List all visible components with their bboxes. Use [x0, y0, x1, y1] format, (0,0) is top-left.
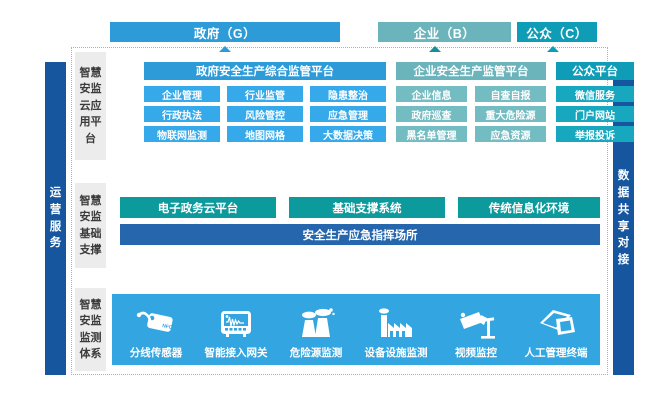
- module-ent-4[interactable]: 黑名单管理: [396, 126, 467, 142]
- tier-body-apps: 政府安全生产综合监管平台 企业安全生产监管平台 公众平台 企业管理 行业监管 隐…: [106, 52, 604, 160]
- module-gov-1[interactable]: 行业监管: [227, 86, 303, 102]
- left-vertical-bar-label: 运营服务: [49, 185, 62, 252]
- platform-title-public[interactable]: 公众平台: [556, 62, 634, 80]
- tier-cloud-application-platform: 智慧安监云应用平台 政府安全生产综合监管平台 企业安全生产监管平台 公众平台 企…: [75, 52, 604, 160]
- nfc-tag-sensor-icon: NFC: [136, 301, 176, 345]
- platform-title-government[interactable]: 政府安全生产综合监管平台: [144, 62, 386, 80]
- base-box-emergency-command-center[interactable]: 安全生产应急指挥场所: [120, 224, 600, 245]
- module-gov-3[interactable]: 行政执法: [144, 106, 220, 122]
- tier-label-apps: 智慧安监云应用平台: [75, 52, 106, 160]
- smart-gateway-icon: [216, 301, 256, 345]
- module-gov-0[interactable]: 企业管理: [144, 86, 220, 102]
- header-pill-government[interactable]: 政府（G）: [110, 22, 340, 42]
- module-gov-2[interactable]: 隐患整治: [310, 86, 386, 102]
- factory-icon: [376, 301, 416, 345]
- right-vertical-bar-label: 数据共享对接: [617, 168, 630, 268]
- header-pill-enterprise[interactable]: 企业（B）: [378, 22, 511, 42]
- module-ent-5[interactable]: 应急资源: [475, 126, 546, 142]
- cctv-camera-icon: [456, 301, 496, 345]
- module-pub-2[interactable]: 举报投诉: [556, 126, 634, 142]
- module-ent-3[interactable]: 重大危险源: [475, 106, 546, 122]
- base-box-egov-cloud[interactable]: 电子政务云平台: [120, 197, 276, 218]
- sense-label-hazard-source: 危险源监测: [290, 345, 343, 365]
- sense-item-smart-gateway[interactable]: 智能接入网关: [197, 294, 275, 365]
- module-gov-4[interactable]: 风险管控: [227, 106, 303, 122]
- module-gov-8[interactable]: 大数据决策: [310, 126, 386, 142]
- sense-label-equipment-monitoring: 设备设施监测: [365, 345, 428, 365]
- tier-base-support: 智慧安监基础支撑 电子政务云平台 基础支撑系统 传统信息化环境 安全生产应急指挥…: [75, 183, 604, 268]
- sense-label-video-surveillance: 视频监控: [455, 345, 497, 365]
- tier-label-sense: 智慧安监监测体系: [75, 288, 106, 371]
- tier-label-apps-text: 智慧安监云应用平台: [79, 65, 103, 148]
- sense-label-wired-sensor: 分线传感器: [130, 345, 183, 365]
- sense-item-manual-terminal[interactable]: 人工管理终端: [517, 294, 595, 365]
- sense-item-video-surveillance[interactable]: 视频监控: [437, 294, 515, 365]
- tier-label-sense-text: 智慧安监监测体系: [79, 297, 103, 363]
- module-gov-7[interactable]: 地图网格: [227, 126, 303, 142]
- sense-item-wired-sensor[interactable]: NFC 分线传感器: [117, 294, 195, 365]
- module-ent-1[interactable]: 自查自报: [475, 86, 546, 102]
- sense-item-hazard-source[interactable]: 危险源监测: [277, 294, 355, 365]
- tier-label-base-text: 智慧安监基础支撑: [79, 193, 103, 259]
- tier-body-sense: NFC 分线传感器: [106, 288, 604, 371]
- left-vertical-bar-operations-service: 运营服务: [45, 62, 66, 375]
- tier-monitoring-system: 智慧安监监测体系 NFC: [75, 288, 604, 371]
- base-box-support-system[interactable]: 基础支撑系统: [289, 197, 445, 218]
- module-ent-0[interactable]: 企业信息: [396, 86, 467, 102]
- tier-body-base: 电子政务云平台 基础支撑系统 传统信息化环境 安全生产应急指挥场所: [106, 183, 604, 268]
- module-pub-1[interactable]: 门户网站: [556, 106, 634, 122]
- sense-label-manual-terminal: 人工管理终端: [525, 345, 588, 365]
- architecture-diagram: 运营服务 数据共享对接 政府（G） 企业（B） 公众（C） 智慧安监云应用平台 …: [0, 0, 653, 402]
- module-gov-5[interactable]: 应急管理: [310, 106, 386, 122]
- module-ent-2[interactable]: 政府巡查: [396, 106, 467, 122]
- platform-title-enterprise[interactable]: 企业安全生产监管平台: [396, 62, 546, 80]
- hazard-source-icon: [296, 301, 336, 345]
- header-pill-public[interactable]: 公众（C）: [517, 22, 597, 42]
- base-box-legacy-it-env[interactable]: 传统信息化环境: [458, 197, 600, 218]
- laptop-terminal-icon: [536, 301, 576, 345]
- sensing-device-band: NFC 分线传感器: [112, 294, 600, 365]
- module-pub-0[interactable]: 微信服务: [556, 86, 634, 102]
- sense-item-equipment-monitoring[interactable]: 设备设施监测: [357, 294, 435, 365]
- sense-label-smart-gateway: 智能接入网关: [205, 345, 268, 365]
- tier-label-base: 智慧安监基础支撑: [75, 183, 106, 268]
- module-gov-6[interactable]: 物联网监测: [144, 126, 220, 142]
